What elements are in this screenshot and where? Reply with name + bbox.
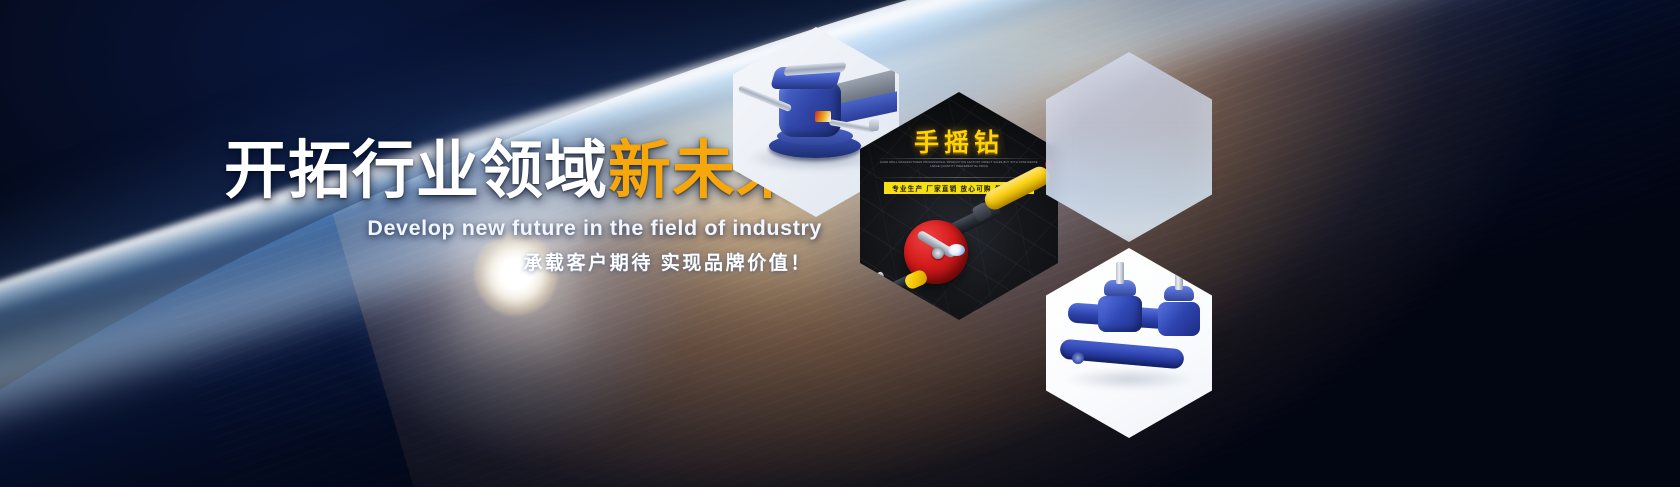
vise-brand-logo xyxy=(815,111,831,122)
headline-block: 开拓行业领域新未来! Develop new future in the fie… xyxy=(0,140,826,241)
page-title: 开拓行业领域新未来! xyxy=(0,140,822,203)
headline-primary: 开拓行业领域 xyxy=(224,136,608,206)
vise-knob xyxy=(869,119,879,131)
clamp-head-left xyxy=(1098,296,1142,332)
clamp-pivot-bolt xyxy=(1072,352,1084,364)
tagline-block: 承载客户期待 实现品牌价值！ xyxy=(0,248,812,275)
poster-fine-print: HAND DRILL MANUFACTURER PROFESSIONAL PRO… xyxy=(876,161,1042,175)
poster-divider-top xyxy=(878,158,1040,159)
clamp-screw-left xyxy=(1116,262,1124,284)
hero-banner: 开拓行业领域新未来! Develop new future in the fie… xyxy=(0,0,1680,487)
subtitle-english: Develop new future in the field of indus… xyxy=(0,216,822,241)
clamp-shadow xyxy=(1062,368,1196,390)
drill-hub-screw xyxy=(932,247,944,259)
clamp-head-right xyxy=(1158,302,1200,336)
drill-blue-sticker xyxy=(948,244,965,256)
tagline-chinese: 承载客户期待 实现品牌价值！ xyxy=(0,248,812,275)
